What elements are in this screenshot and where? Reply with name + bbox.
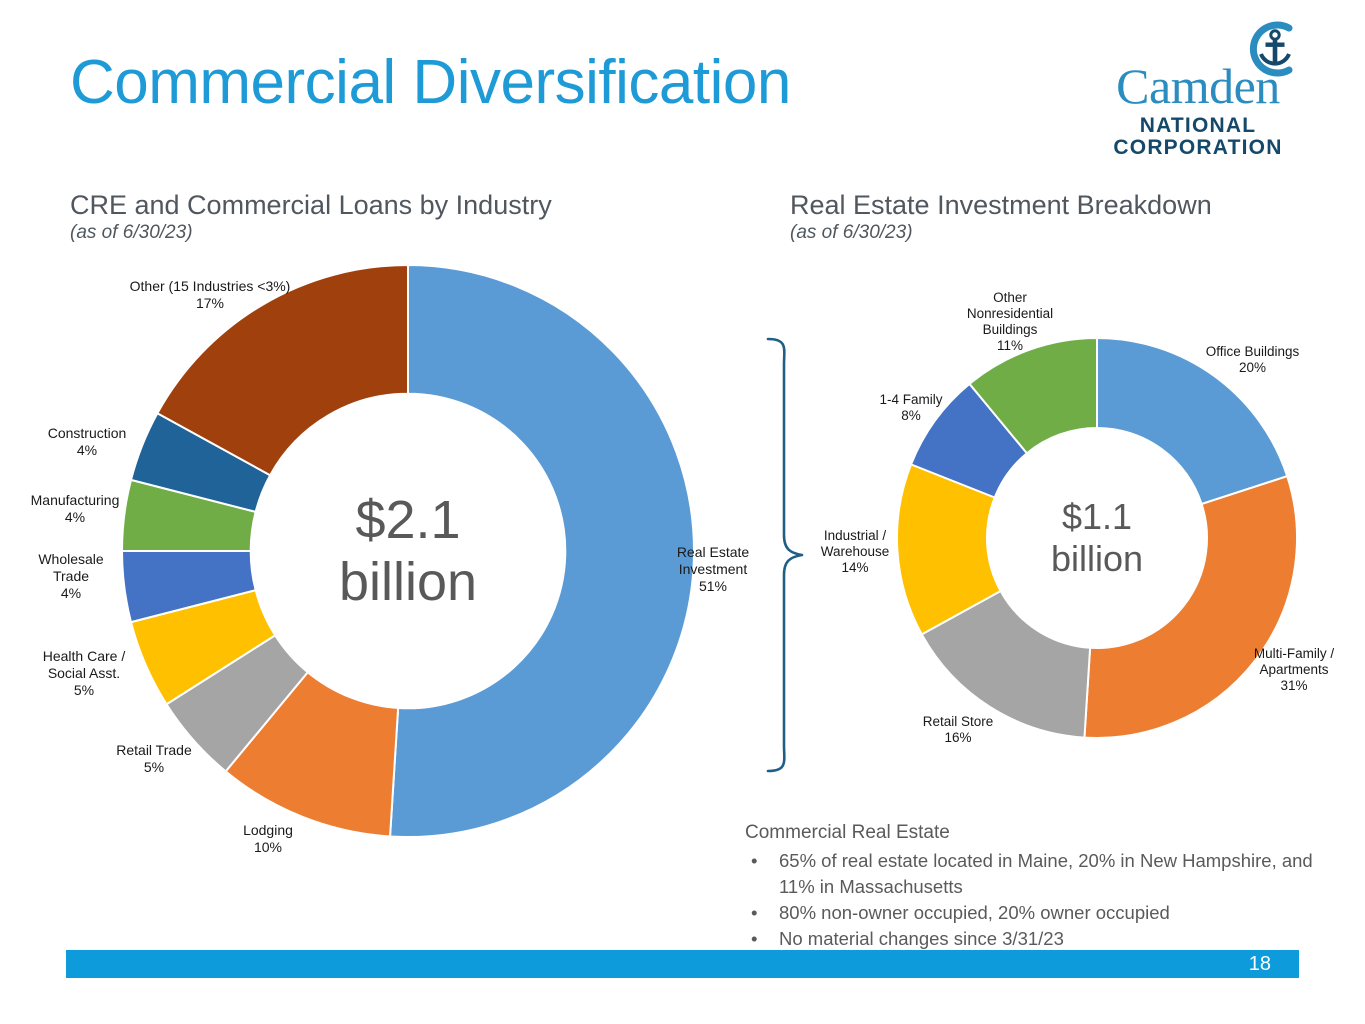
slide: Commercial Diversification Camden NATION… xyxy=(0,0,1365,1024)
logo-line-corporation: CORPORATION xyxy=(1093,136,1303,160)
label-wholesale-trade: Wholesale Trade 4% xyxy=(12,551,130,602)
note-text: 65% of real estate located in Maine, 20%… xyxy=(779,848,1350,900)
right-chart-subheading: (as of 6/30/23) xyxy=(790,222,913,244)
donut-slice xyxy=(1084,476,1297,738)
label-office-buildings: Office Buildings 20% xyxy=(1185,344,1320,376)
right-chart-heading: Real Estate Investment Breakdown xyxy=(790,190,1212,221)
donut-slice xyxy=(390,265,694,837)
bullet-glyph: • xyxy=(745,926,779,952)
bullet-glyph: • xyxy=(745,848,779,900)
label-lodging: Lodging 10% xyxy=(206,822,330,856)
note-text: No material changes since 3/31/23 xyxy=(779,926,1350,952)
label-1-4-family: 1-4 Family 8% xyxy=(852,392,970,424)
label-other-15-industries: Other (15 Industries <3%) 17% xyxy=(85,278,335,312)
camden-national-logo: Camden NATIONAL CORPORATION xyxy=(1093,18,1303,148)
label-industrial-warehouse: Industrial / Warehouse 14% xyxy=(800,528,910,576)
footer-bar: 18 xyxy=(66,950,1299,978)
note-text: 80% non-owner occupied, 20% owner occupi… xyxy=(779,900,1350,926)
list-item: • 80% non-owner occupied, 20% owner occu… xyxy=(745,900,1350,926)
label-other-nonresidential-buildings: Other Nonresidential Buildings 11% xyxy=(935,290,1085,354)
left-chart-subheading: (as of 6/30/23) xyxy=(70,222,193,244)
logo-line-national: NATIONAL xyxy=(1093,114,1303,138)
label-manufacturing: Manufacturing 4% xyxy=(10,492,140,526)
notes-heading: Commercial Real Estate xyxy=(745,820,1350,846)
page-number: 18 xyxy=(1249,950,1271,978)
label-retail-store: Retail Store 16% xyxy=(898,714,1018,746)
label-real-estate-investment: Real Estate Investment 51% xyxy=(665,544,761,595)
label-construction: Construction 4% xyxy=(22,425,152,459)
logo-wordmark: Camden xyxy=(1093,60,1303,112)
page-title: Commercial Diversification xyxy=(70,48,791,118)
bullet-glyph: • xyxy=(745,900,779,926)
label-retail-trade: Retail Trade 5% xyxy=(92,742,216,776)
list-item: • 65% of real estate located in Maine, 2… xyxy=(745,848,1350,900)
label-multi-family-apartments: Multi-Family / Apartments 31% xyxy=(1234,646,1354,694)
left-chart-heading: CRE and Commercial Loans by Industry xyxy=(70,190,552,221)
list-item: • No material changes since 3/31/23 xyxy=(745,926,1350,952)
label-health-care-social-asst: Health Care / Social Asst. 5% xyxy=(24,648,144,699)
commercial-real-estate-notes: Commercial Real Estate • 65% of real est… xyxy=(745,820,1350,952)
